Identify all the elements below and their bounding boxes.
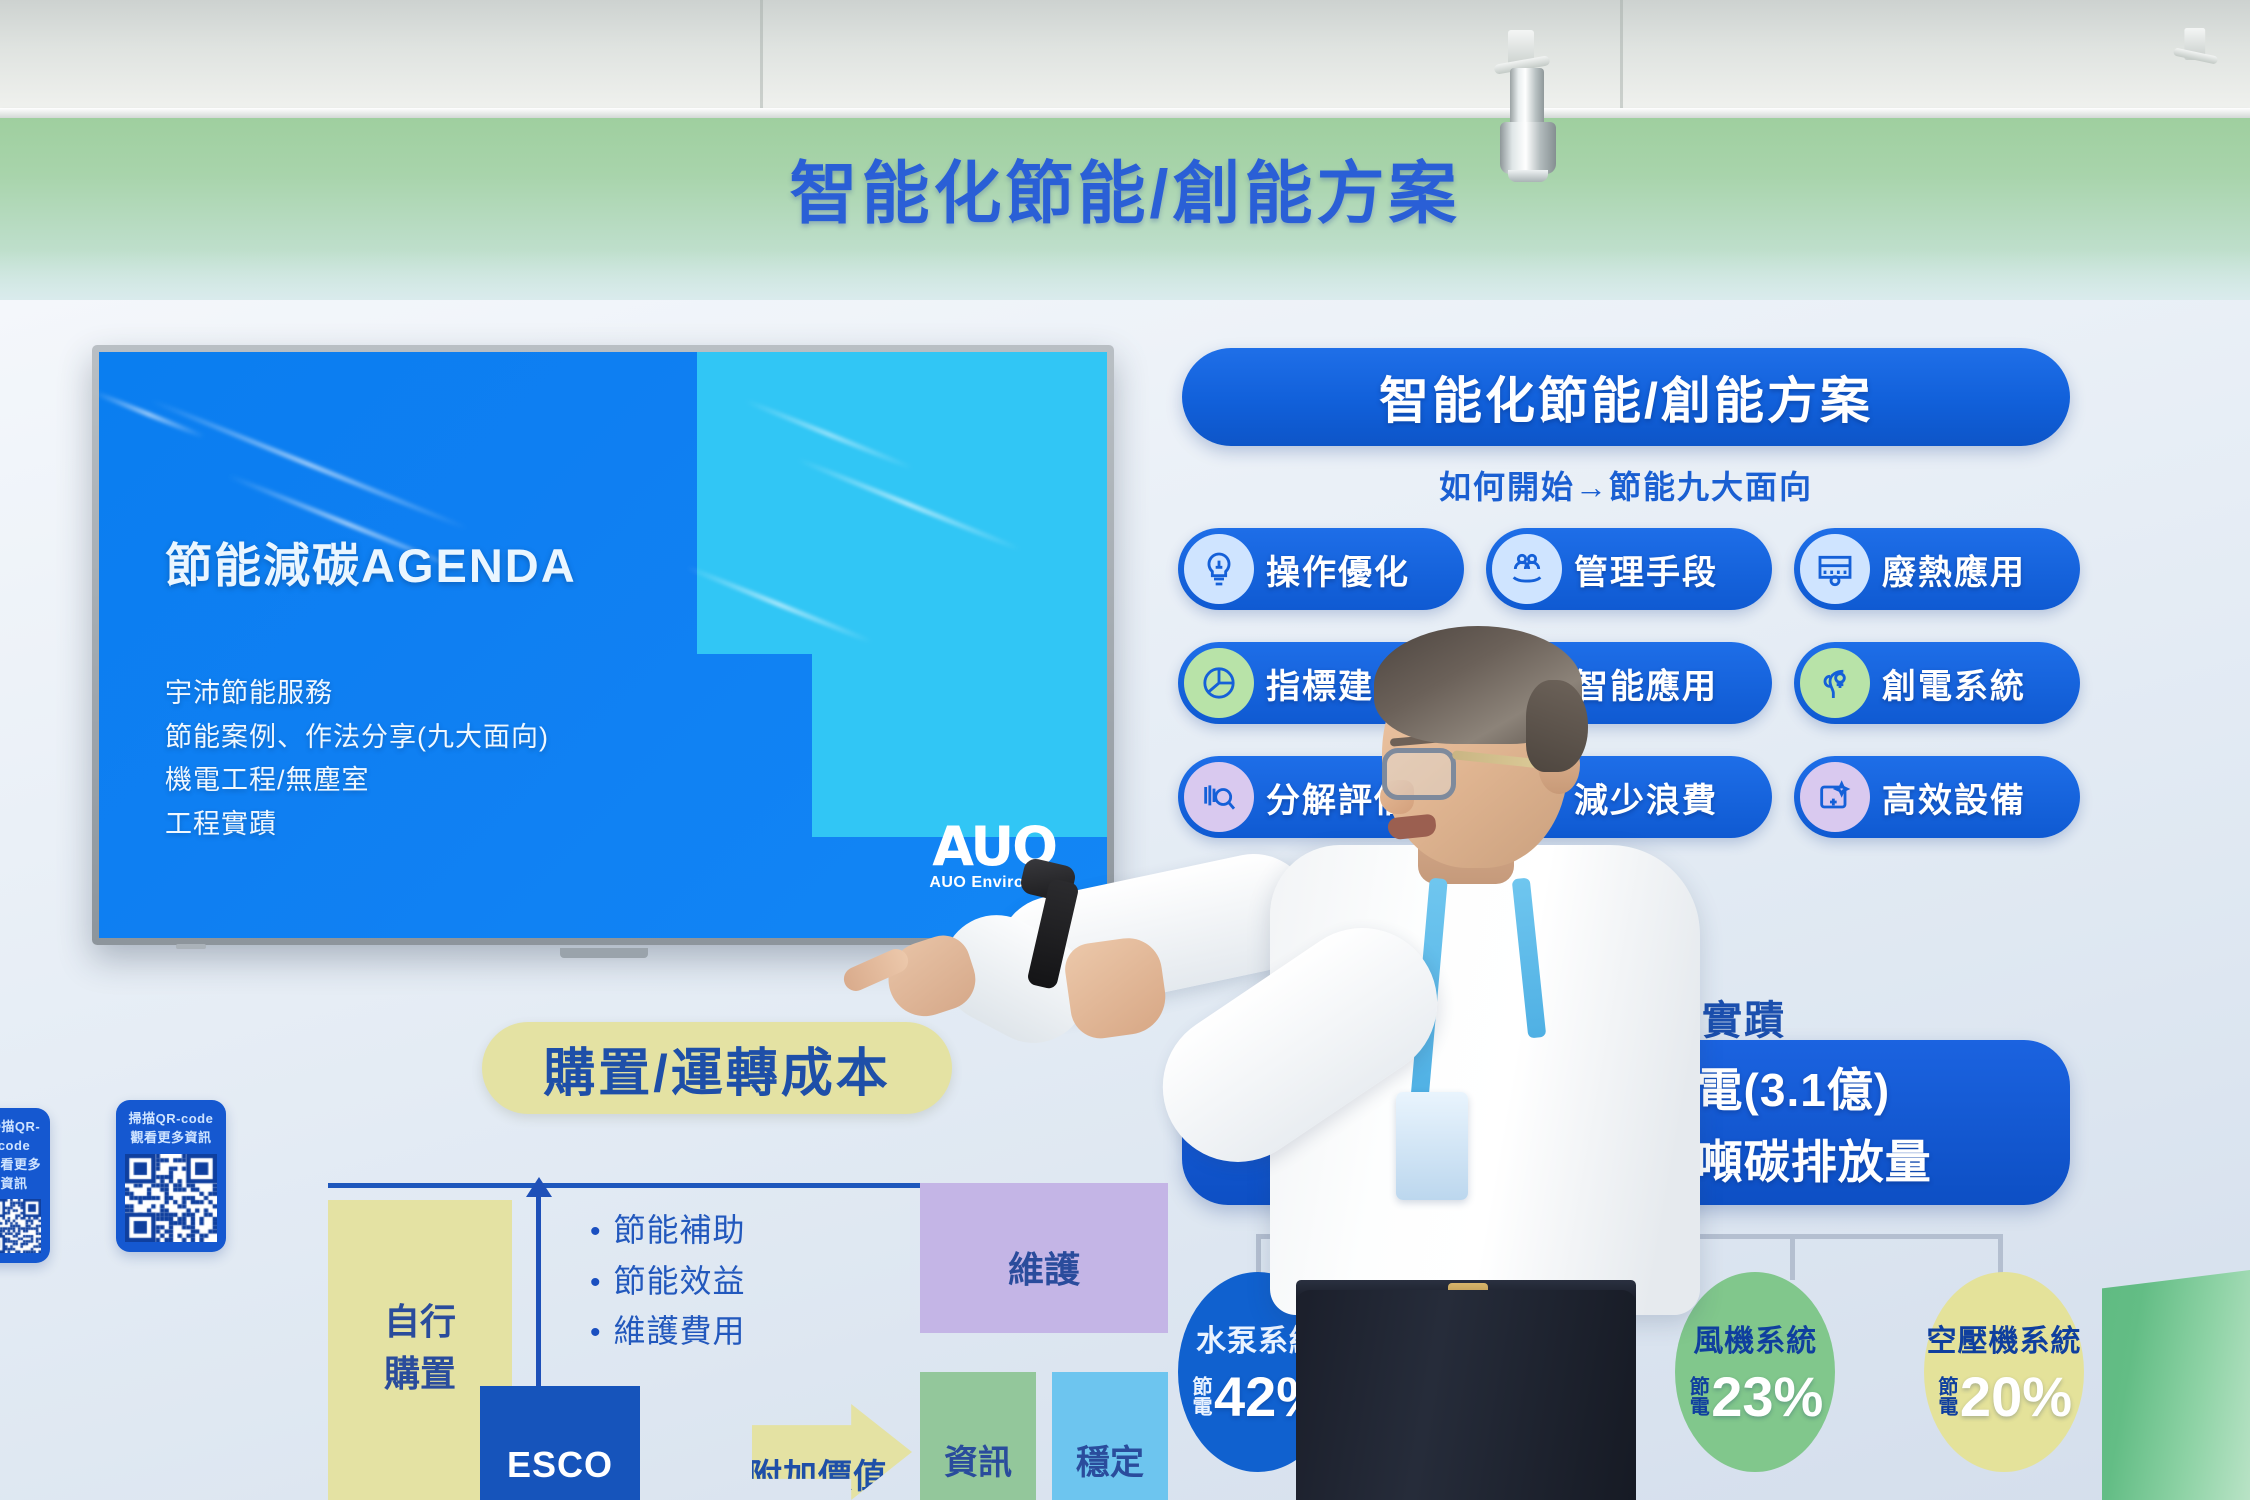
chart-bar-label: 自行購置 [328, 1296, 512, 1400]
chart-bar-label: ESCO [480, 1444, 640, 1486]
aspect-label: 管理手段 [1574, 545, 1718, 594]
qr-caption: 掃描QR-code 觀看更多資訊 [125, 1110, 217, 1148]
qr-card-right[interactable]: 掃描QR-code 觀看更多資訊 [116, 1100, 226, 1252]
display-tv: 節能減碳AGENDA 宇沛節能服務 節能案例、作法分享(九大面向) 機電工程/無… [92, 345, 1114, 945]
brain-icon [1800, 648, 1870, 718]
cost-comparison-chart: 自行購置 節能補助 節能效益 維護費用 ESCO 附加價值 資訊 穩定 維護 [300, 1175, 1130, 1500]
chart-bar: 資訊 [920, 1372, 1036, 1500]
aspect-label: 創電系統 [1882, 659, 2026, 708]
tv-bullet: 節能案例、作法分享(九大面向) [165, 716, 549, 760]
chart-bar-label: 資訊 [920, 1435, 1036, 1484]
tv-indicator [176, 944, 206, 949]
glasses-icon [1382, 748, 1456, 800]
aspect-label: 高效設備 [1882, 773, 2026, 822]
poster-header-pill: 智能化節能/創能方案 [1182, 348, 2070, 446]
magnifier-icon [1184, 762, 1254, 832]
aspect-pill[interactable]: 創電系統 [1794, 642, 2080, 724]
lightbulb-icon [1184, 534, 1254, 604]
cost-title-text: 購置/運轉成本 [543, 1031, 890, 1106]
ceiling [0, 0, 2250, 122]
savings-bubble: 空壓機系統 節電 20% [1924, 1272, 2084, 1472]
qr-caption: 掃描QR-code 觀看更多資訊 [0, 1118, 41, 1193]
light-track [0, 108, 2250, 118]
aspect-label: 操作優化 [1266, 545, 1410, 594]
presenter-trousers [1296, 1290, 1636, 1500]
value-add-label: 附加價值 [748, 1449, 933, 1498]
aspect-pill[interactable]: 管理手段 [1486, 528, 1772, 610]
pie-chart-icon [1184, 648, 1254, 718]
bubble-value: 20% [1960, 1364, 2072, 1429]
tv-screen: 節能減碳AGENDA 宇沛節能服務 節能案例、作法分享(九大面向) 機電工程/無… [99, 352, 1107, 938]
qr-card-left[interactable]: 掃描QR-code 觀看更多資訊 [0, 1108, 50, 1263]
tv-bullet: 工程實蹟 [165, 803, 549, 847]
chart-bar: 維護 [920, 1183, 1168, 1333]
annotation-bullet: 節能補助 [590, 1205, 746, 1256]
tv-slide-bullets: 宇沛節能服務 節能案例、作法分享(九大面向) 機電工程/無塵室 工程實蹟 [165, 672, 549, 847]
aspect-label: 廢熱應用 [1882, 545, 2026, 594]
poster-header-text: 智能化節能/創能方案 [1379, 361, 1873, 433]
chart-bar: 穩定 [1052, 1372, 1168, 1500]
factory-icon [1800, 534, 1870, 604]
tv-stand [560, 948, 648, 958]
aspect-pill[interactable]: 高效設備 [1794, 756, 2080, 838]
chart-bar-label: 穩定 [1052, 1435, 1168, 1484]
chart-bar: ESCO [480, 1386, 640, 1500]
value-add-arrow: 附加價值 [752, 1404, 912, 1500]
qr-code-image [125, 1154, 217, 1242]
panel-icon [1800, 762, 1870, 832]
aspect-pill[interactable]: 廢熱應用 [1794, 528, 2080, 610]
bubble-tag: 節電 [1190, 1376, 1210, 1416]
bubble-tag: 節電 [1936, 1376, 1956, 1416]
chart-annotation-bullets: 節能補助 節能效益 維護費用 [590, 1205, 746, 1357]
presenter-hair-side [1526, 680, 1588, 772]
tv-bullet: 宇沛節能服務 [165, 672, 549, 716]
annotation-bullet: 節能效益 [590, 1256, 746, 1307]
cost-title-pill: 購置/運轉成本 [482, 1022, 952, 1114]
presenter [1270, 640, 1730, 1500]
people-hand-icon [1492, 534, 1562, 604]
tv-slide-title: 節能減碳AGENDA [165, 527, 577, 596]
id-badge [1396, 1092, 1468, 1200]
exhibition-scene: 智能化節能/創能方案 節能減碳AGENDA 宇沛節能服務 節能案例、作法分享(九… [0, 0, 2250, 1500]
qr-code-image [0, 1199, 41, 1253]
bubble-system-name: 空壓機系統 [1926, 1316, 2081, 1360]
chart-bar-label: 維護 [920, 1241, 1168, 1293]
booth-banner-title: 智能化節能/創能方案 [0, 138, 2250, 237]
tv-bullet: 機電工程/無塵室 [165, 759, 549, 803]
aspect-pill[interactable]: 操作優化 [1178, 528, 1464, 610]
annotation-bullet: 維護費用 [590, 1306, 746, 1357]
poster-subheader: 如何開始→節能九大面向 [1182, 462, 2070, 508]
